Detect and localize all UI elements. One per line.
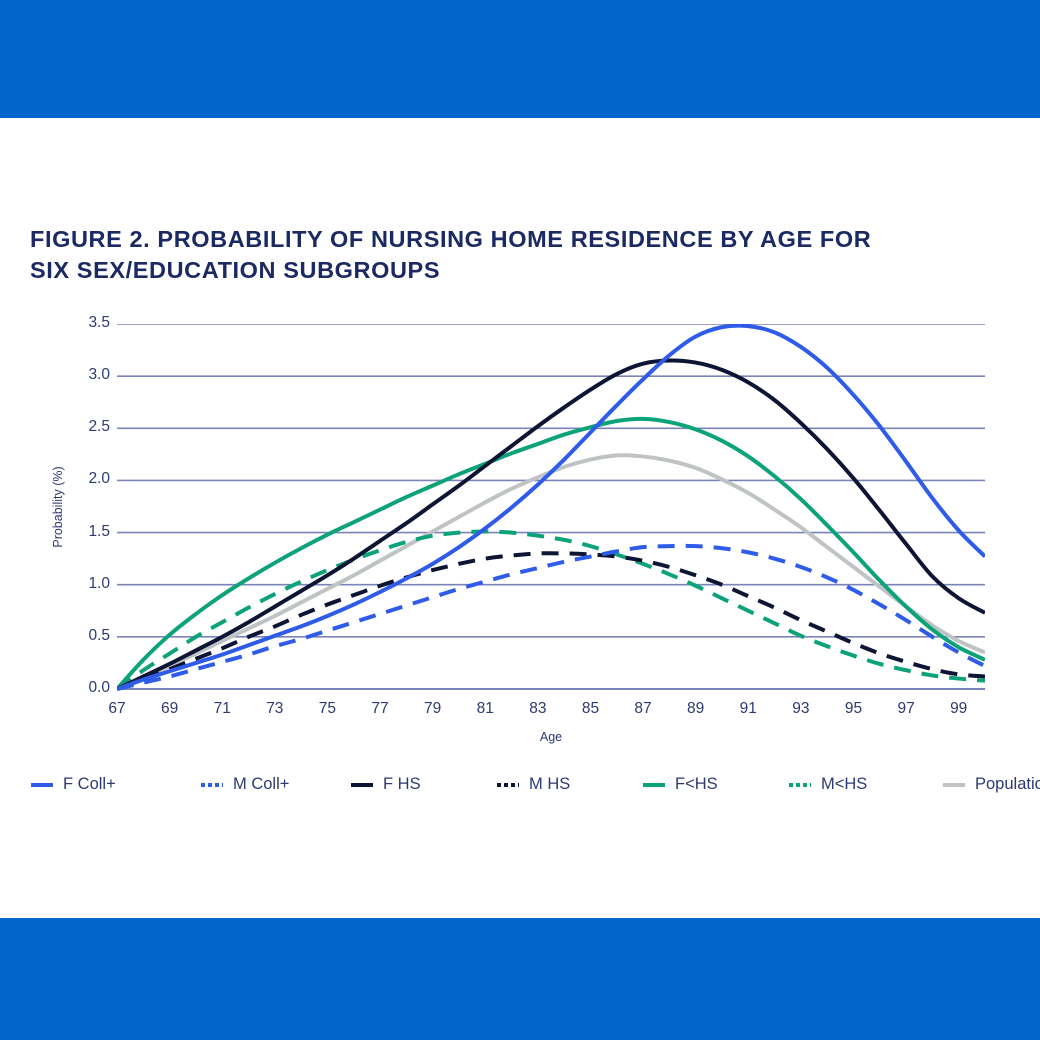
figure-title-line-1: FIGURE 2. PROBABILITY OF NURSING HOME RE…: [30, 224, 950, 255]
y-tick-label: 1.5: [66, 523, 110, 541]
page-title: FIGURE 2. PROBABILITY OF NURSING HOME RE…: [30, 224, 950, 286]
legend-line-swatch-icon: [496, 779, 520, 791]
legend-label: M<HS: [821, 775, 867, 794]
figure-page: FIGURE 2. PROBABILITY OF NURSING HOME RE…: [0, 0, 1040, 1040]
x-tick-label: 91: [740, 700, 757, 718]
plot-area: [117, 324, 985, 689]
legend-label: M HS: [529, 775, 570, 794]
figure-title-line-2: SIX SEX/EDUCATION SUBGROUPS: [30, 255, 950, 286]
x-tick-label: 81: [477, 700, 494, 718]
legend-item-m-hs[interactable]: M HS: [496, 775, 570, 794]
x-tick-label: 69: [161, 700, 178, 718]
x-tick-label: 87: [634, 700, 651, 718]
chart-legend: F Coll+M Coll+F HSM HSF<HSM<HSPopulation: [26, 775, 1026, 801]
series-line-population: [117, 455, 985, 689]
legend-item-m-hs[interactable]: M<HS: [788, 775, 867, 794]
legend-label: Population: [975, 775, 1040, 794]
y-tick-label: 3.0: [66, 366, 110, 384]
x-tick-label: 89: [687, 700, 704, 718]
x-tick-label: 85: [582, 700, 599, 718]
x-tick-label: 75: [319, 700, 336, 718]
x-tick-label: 71: [214, 700, 231, 718]
x-tick-label: 77: [371, 700, 388, 718]
y-axis-tick-labels: 0.00.51.01.52.02.53.03.5: [60, 300, 110, 760]
legend-item-f-hs[interactable]: F<HS: [642, 775, 718, 794]
y-tick-label: 2.5: [66, 418, 110, 436]
x-tick-label: 93: [792, 700, 809, 718]
y-tick-label: 0.5: [66, 627, 110, 645]
bottom-banner-band: [0, 918, 1040, 1040]
legend-label: F HS: [383, 775, 421, 794]
legend-item-population[interactable]: Population: [942, 775, 1040, 794]
x-tick-label: 67: [108, 700, 125, 718]
series-line-f-hs: [117, 360, 985, 689]
legend-line-swatch-icon: [788, 779, 812, 791]
legend-label: M Coll+: [233, 775, 289, 794]
x-axis-title: Age: [117, 730, 985, 744]
legend-label: F Coll+: [63, 775, 116, 794]
top-banner-band: [0, 0, 1040, 118]
x-tick-label: 79: [424, 700, 441, 718]
legend-item-m-coll[interactable]: M Coll+: [200, 775, 289, 794]
x-axis-tick-labels: 6769717375777981838587899193959799: [117, 700, 985, 726]
x-tick-label: 73: [266, 700, 283, 718]
legend-line-swatch-icon: [942, 779, 966, 791]
x-tick-label: 97: [897, 700, 914, 718]
chart-container: Probability (%) 0.00.51.01.52.02.53.03.5…: [0, 300, 1040, 760]
gridlines: [117, 324, 985, 689]
series-line-f-coll: [117, 326, 985, 689]
legend-line-swatch-icon: [350, 779, 374, 791]
legend-line-swatch-icon: [30, 779, 54, 791]
x-tick-label: 99: [950, 700, 967, 718]
legend-label: F<HS: [675, 775, 718, 794]
legend-line-swatch-icon: [642, 779, 666, 791]
y-tick-label: 1.0: [66, 575, 110, 593]
y-tick-label: 3.5: [66, 314, 110, 332]
legend-line-swatch-icon: [200, 779, 224, 791]
legend-item-f-hs[interactable]: F HS: [350, 775, 421, 794]
y-tick-label: 2.0: [66, 470, 110, 488]
legend-item-f-coll[interactable]: F Coll+: [30, 775, 116, 794]
x-tick-label: 95: [845, 700, 862, 718]
x-tick-label: 83: [529, 700, 546, 718]
y-tick-label: 0.0: [66, 679, 110, 697]
